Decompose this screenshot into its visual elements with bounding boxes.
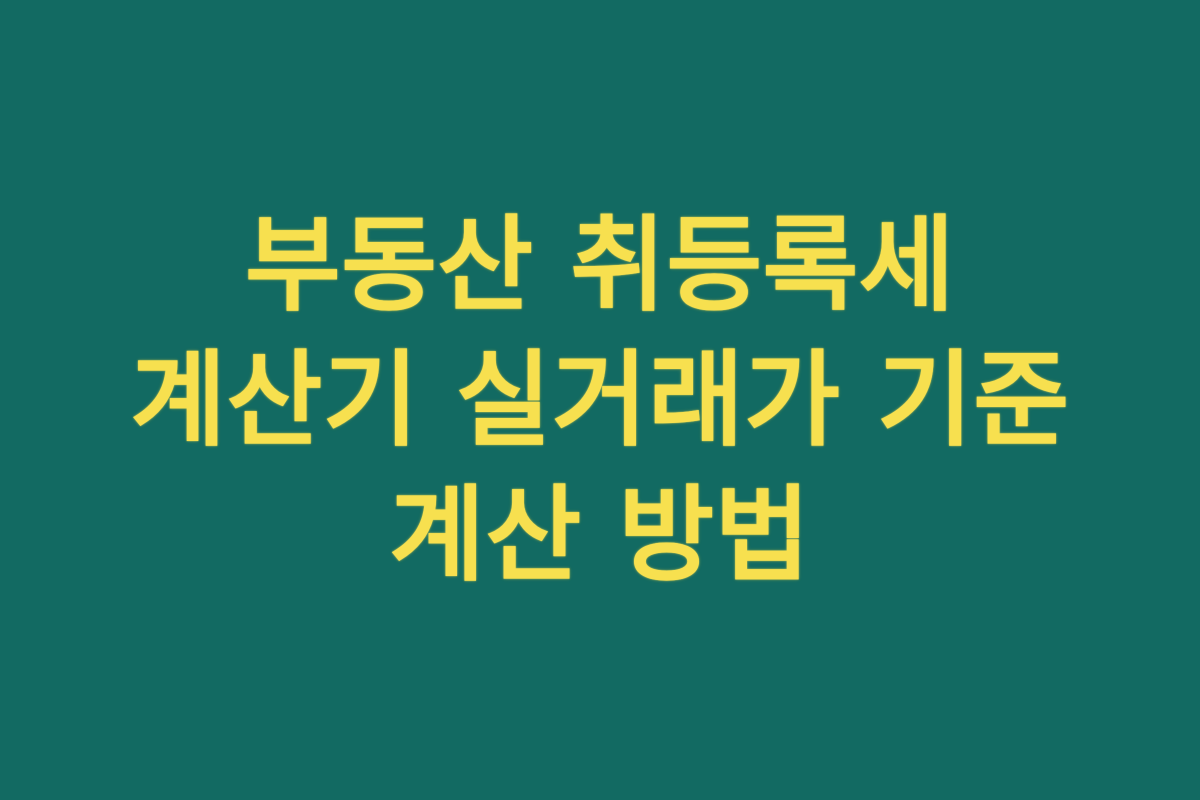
thumbnail-canvas: 부동산 취등록세 계산기 실거래가 기준 계산 방법 <box>0 0 1200 800</box>
title-block: 부동산 취등록세 계산기 실거래가 기준 계산 방법 <box>80 198 1120 603</box>
page-title: 부동산 취등록세 계산기 실거래가 기준 계산 방법 <box>90 198 1110 603</box>
